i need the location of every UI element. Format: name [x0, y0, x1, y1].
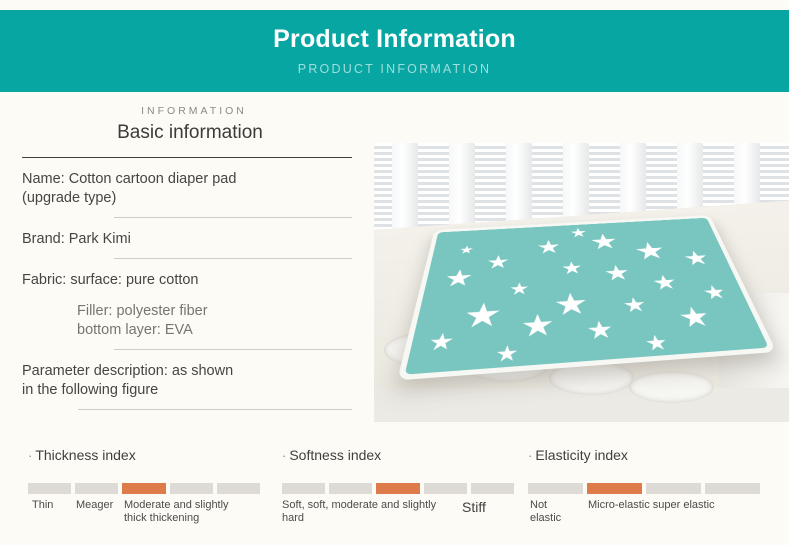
page-banner: Product Information PRODUCT INFORMATION: [0, 10, 789, 92]
index-segment: [587, 483, 642, 494]
index-segment-label: Moderate and slightly thick thickening: [124, 499, 264, 525]
index-title-elasticity: ·Elasticity index: [528, 446, 760, 465]
index-labels-elasticity: Not elasticMicro-elastic super elastic: [528, 499, 760, 529]
index-title-text: Elasticity index: [535, 447, 628, 463]
index-segment-label: Stiff: [462, 499, 522, 515]
product-photo: [374, 143, 789, 422]
index-labels-softness: Soft, soft, moderate and slightly hardSt…: [282, 499, 514, 529]
index-segment: [282, 483, 325, 494]
index-title-text: Softness index: [289, 447, 381, 463]
index-segment: [705, 483, 760, 494]
basic-information-section: INFORMATION Basic information Name: Cott…: [22, 104, 352, 410]
index-block-elasticity: ·Elasticity index Not elasticMicro-elast…: [528, 446, 760, 529]
index-segment: [528, 483, 583, 494]
index-labels-thickness: ThinMeagerModerate and slightly thick th…: [28, 499, 260, 529]
index-title-softness: ·Softness index: [282, 446, 514, 465]
info-text-filler: Filler: polyester fiber bottom layer: EV…: [22, 302, 352, 340]
index-segment: [471, 483, 514, 494]
mattress-quilt: [629, 371, 714, 403]
info-item-brand: Brand: Park Kimi: [22, 218, 352, 259]
index-block-thickness: ·Thickness index ThinMeagerModerate and …: [28, 446, 260, 529]
index-bars-section: ·Thickness index ThinMeagerModerate and …: [0, 446, 789, 541]
index-segment: [217, 483, 260, 494]
index-bar-elasticity: [528, 483, 760, 494]
information-heading: Basic information: [22, 118, 352, 145]
info-item-name: Name: Cotton cartoon diaper pad (upgrade…: [22, 158, 352, 218]
index-segment-label: Not elastic: [530, 499, 580, 525]
info-divider-4: [78, 409, 352, 410]
info-text-name: Name: Cotton cartoon diaper pad (upgrade…: [22, 170, 352, 208]
info-item-filler: Filler: polyester fiber bottom layer: EV…: [22, 290, 352, 350]
index-title-text: Thickness index: [35, 447, 135, 463]
index-segment: [646, 483, 701, 494]
info-text-fabric: Fabric: surface: pure cotton: [22, 271, 352, 290]
info-item-fabric: Fabric: surface: pure cotton: [22, 259, 352, 290]
index-segment-label: Micro-elastic super elastic: [588, 499, 758, 512]
info-text-brand: Brand: Park Kimi: [22, 230, 352, 249]
index-segment: [28, 483, 71, 494]
index-segment: [376, 483, 419, 494]
index-segment: [424, 483, 467, 494]
page-subtitle: PRODUCT INFORMATION: [0, 54, 789, 77]
index-bar-softness: [282, 483, 514, 494]
index-segment: [75, 483, 118, 494]
page-title: Product Information: [0, 10, 789, 54]
index-segment-label: Meager: [76, 499, 116, 512]
info-item-parameter: Parameter description: as shown in the f…: [22, 350, 352, 410]
index-segment: [170, 483, 213, 494]
index-segment-label: Soft, soft, moderate and slightly hard: [282, 499, 457, 525]
diaper-pad: [397, 215, 777, 380]
index-segment: [122, 483, 165, 494]
info-text-parameter: Parameter description: as shown in the f…: [22, 362, 352, 400]
information-eyebrow: INFORMATION: [22, 104, 352, 118]
product-information-page: Product Information PRODUCT INFORMATION …: [0, 0, 789, 545]
index-block-softness: ·Softness index Soft, soft, moderate and…: [282, 446, 514, 529]
index-segment-label: Thin: [32, 499, 72, 512]
index-bar-thickness: [28, 483, 260, 494]
index-segment: [329, 483, 372, 494]
index-title-thickness: ·Thickness index: [28, 446, 260, 465]
